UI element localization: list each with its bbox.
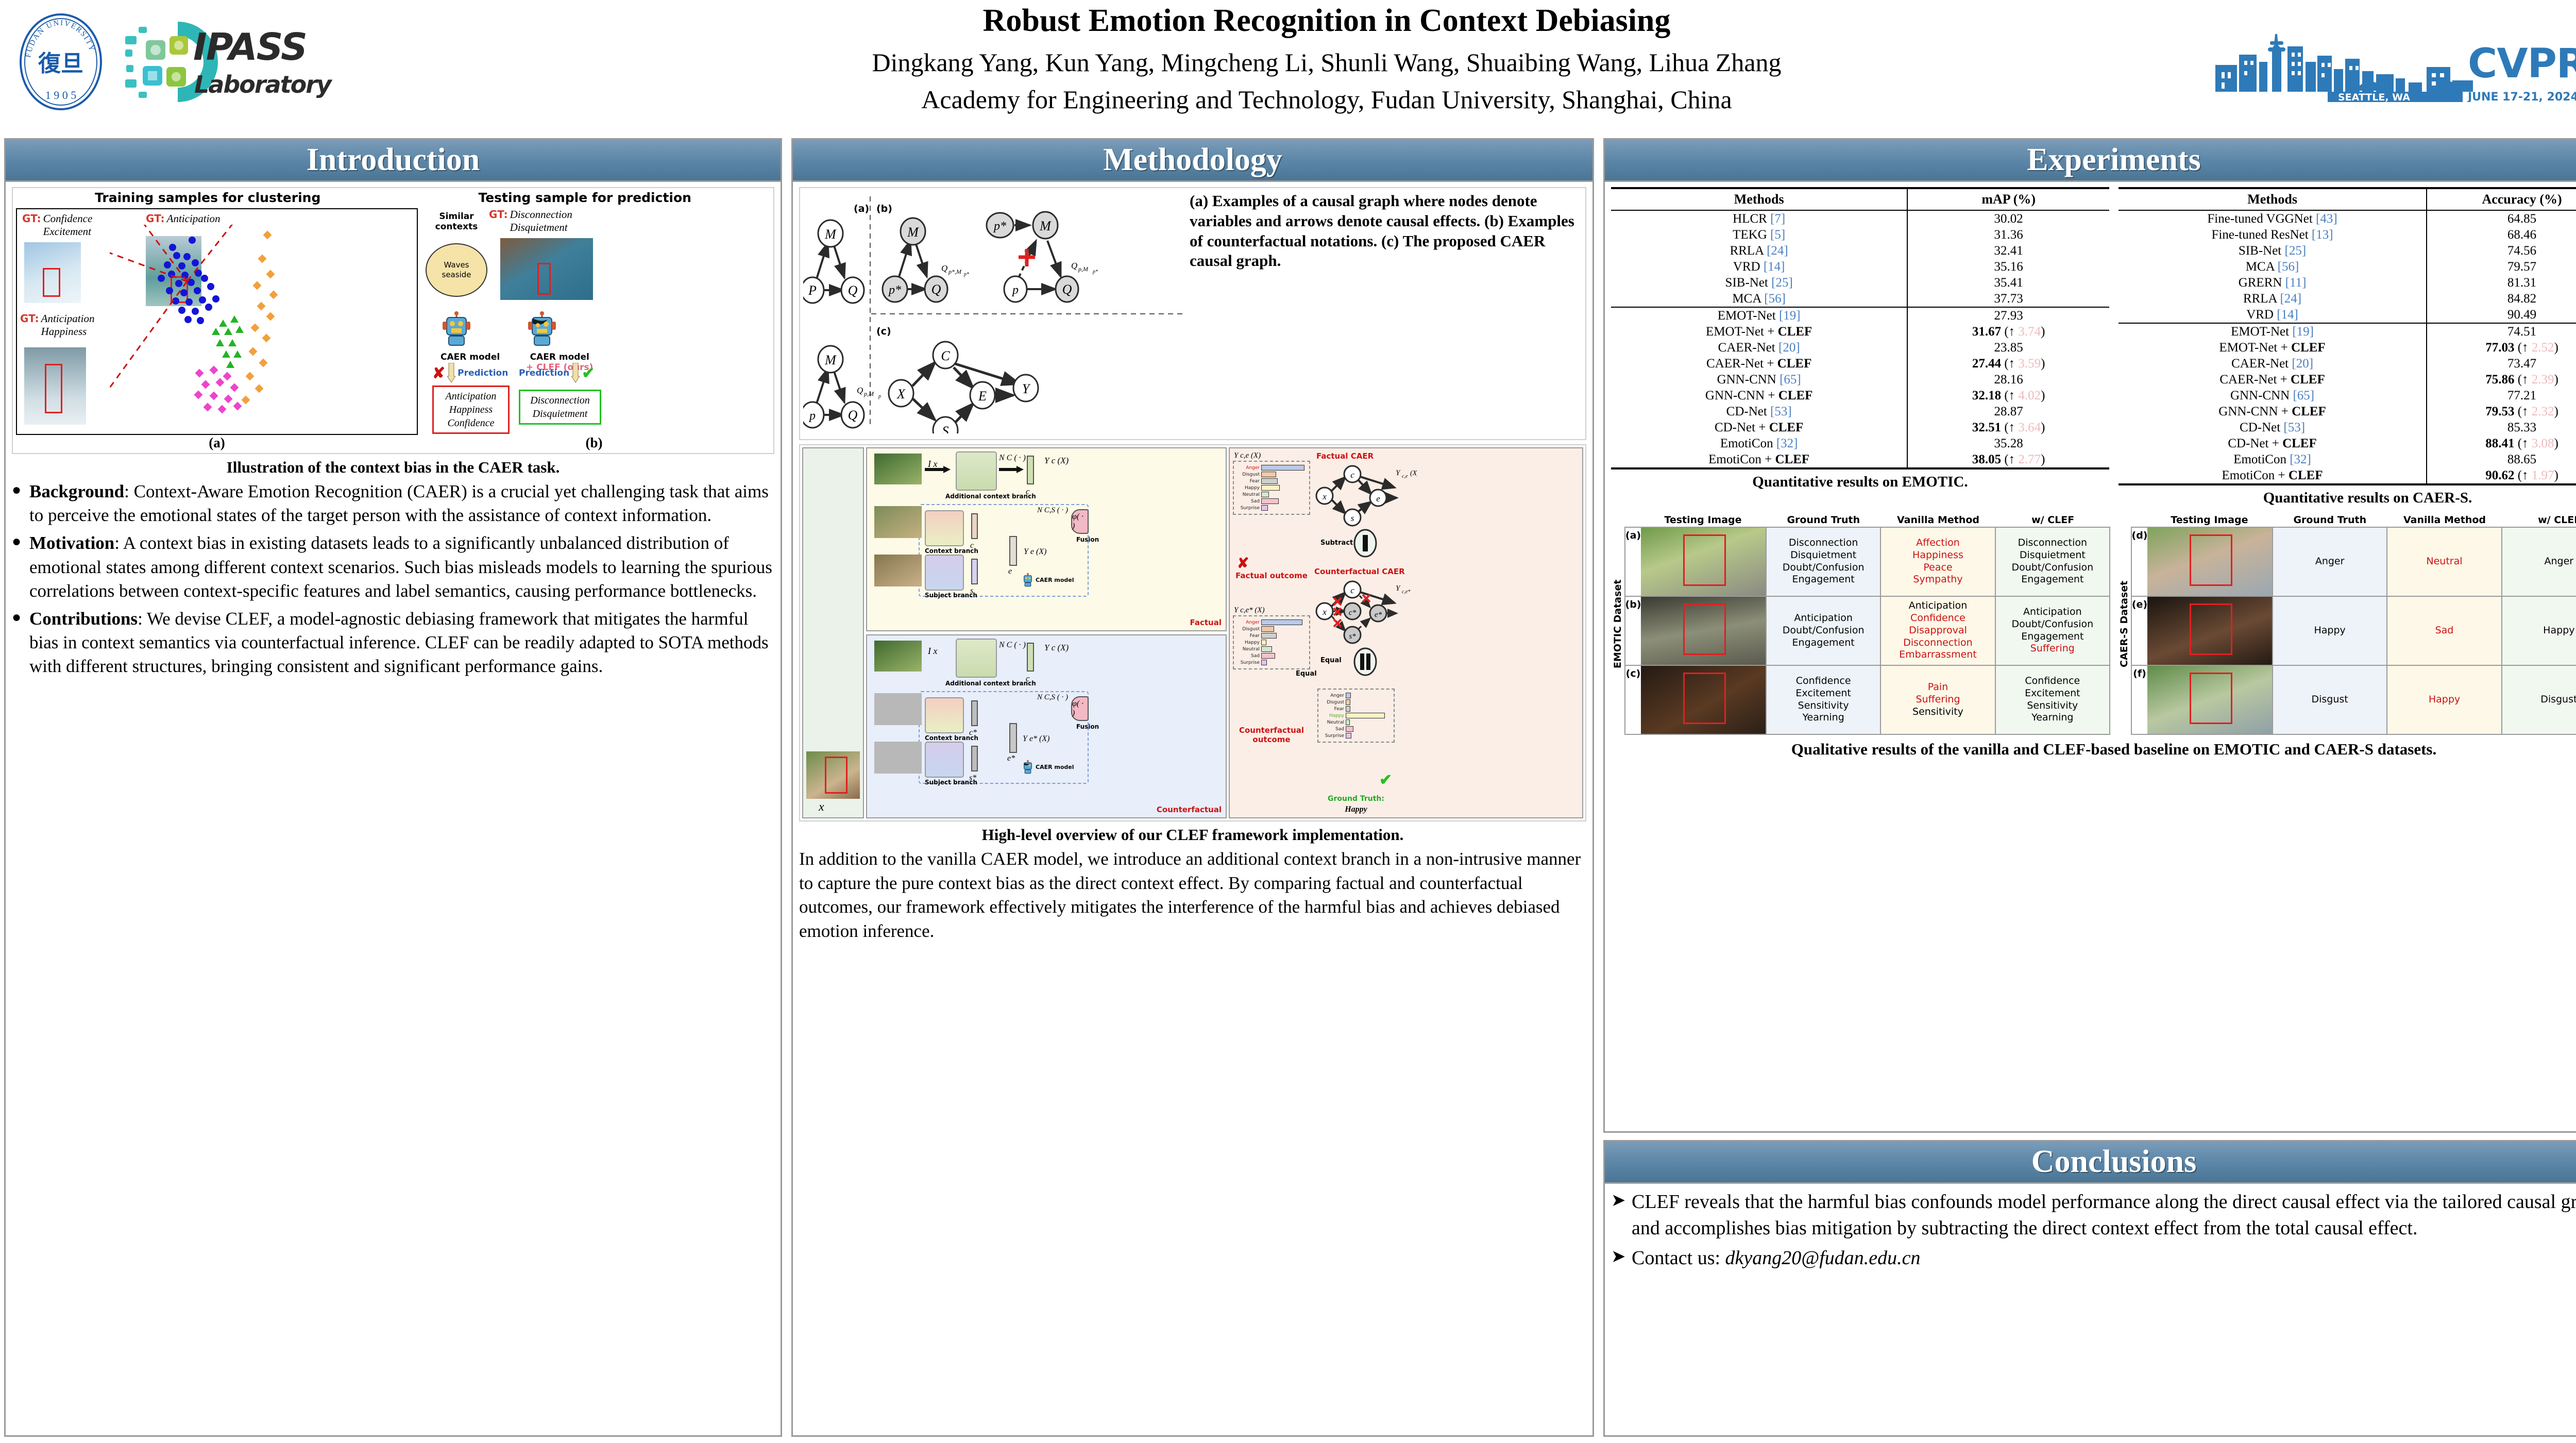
vanilla-method-cell: Happy [2386, 666, 2501, 734]
table-cell-method: CAER-Net + CLEF [1611, 356, 1907, 372]
counterfactual-caer-label: Counterfactual CAER [1314, 567, 1405, 576]
factual-branch-panel: I x N C ( · ) c Y c (X) Additional conte… [866, 447, 1227, 631]
emotion-bar [1261, 646, 1272, 652]
table-row: Fine-tuned ResNet [13]68.46 [2119, 227, 2576, 243]
svg-text:(b): (b) [876, 203, 892, 214]
fudan-university-logo-icon: FUDAN UNIVERSITY 復旦 1 9 0 5 [9, 10, 112, 113]
cross-mark-icon: ✘ [432, 364, 445, 382]
svg-text:M: M [824, 353, 837, 367]
methodology-paragraph: In addition to the vanilla CAER model, w… [799, 847, 1586, 943]
fusion-label: Fusion [1076, 536, 1099, 543]
svg-text:E: E [978, 389, 987, 404]
vanilla-method-cell: AnticipationConfidenceDisapprovalDisconn… [1880, 597, 1994, 665]
counterfactual-outcome-label: Counterfactual outcome [1233, 726, 1310, 744]
emotion-label: Happy [1320, 713, 1344, 718]
bullet-contributions-lead: Contributions [29, 609, 138, 629]
table-cell-value: 35.16 [1907, 259, 2109, 275]
clef-cell: AnticipationDoubt/ConfusionEngagementSuf… [1995, 597, 2109, 665]
emotion-bar-row: Sad [1236, 498, 1307, 504]
train-image-3 [24, 347, 86, 425]
table-row: EMOT-Net [19]74.51 [2119, 323, 2576, 340]
arrow-bullet-icon: ➤ [1611, 1189, 1632, 1242]
arrow-icon [925, 466, 952, 473]
svg-text:Q: Q [857, 385, 863, 395]
image-ix-label-cf: I x [928, 646, 937, 657]
emotion-bar [1346, 713, 1385, 718]
table-row: RRLA [24]32.41 [1611, 243, 2109, 259]
bullet-background-lead: Background [29, 481, 124, 501]
qualitative-row: (d)AngerNeutralAnger [2131, 527, 2576, 597]
waves-seaside-cloud-label: Waves seaside [442, 260, 471, 280]
table-cell-method: EmotiCon [32] [1611, 435, 1907, 451]
check-mark-icon: ✔ [582, 364, 595, 382]
table-row: Fine-tuned VGGNet [43]64.85 [2119, 210, 2576, 227]
svg-text:p*,M: p*,M [948, 268, 962, 275]
svg-text:p*: p* [1092, 269, 1098, 275]
table-cell-method: GRERN [11] [2119, 275, 2427, 291]
subject-image [874, 555, 922, 586]
ground-truth-cell: Anger [2272, 528, 2386, 596]
column-experiments: Experiments Methods mAP (%) [1603, 138, 2576, 1437]
qualitative-row: (a)DisconnectionDisquietmentDoubt/Confus… [1624, 527, 2110, 597]
svg-text:p*: p* [993, 220, 1006, 233]
svg-text:Y: Y [1396, 469, 1401, 477]
svg-text:Q: Q [848, 408, 858, 423]
factual-caer-label: Factual CAER [1316, 451, 1374, 461]
testing-image-cell [1641, 666, 1766, 734]
svg-text:p*: p* [963, 272, 969, 277]
emotic-header-methods: Methods [1611, 188, 1907, 210]
ground-truth-cell: Happy [2272, 597, 2386, 665]
svg-text:M: M [824, 227, 837, 242]
svg-text:Y: Y [1022, 381, 1031, 396]
emotion-label: Surprise [1236, 506, 1260, 511]
caers-table-caption: Quantitative results on CAER-S. [2119, 490, 2576, 507]
table-cell-method: CD-Net + CLEF [1611, 420, 1907, 435]
emotion-label: Anger [1320, 693, 1344, 698]
feature-c-bar-2 [971, 513, 978, 539]
table-row: VRD [14]35.16 [1611, 259, 2109, 275]
nc-label-cf: N C ( · ) [999, 641, 1026, 650]
ground-truth-cell: ConfidenceExcitementSensitivityYearning [1766, 666, 1880, 734]
gray-image-1 [874, 693, 922, 725]
table-row: CAER-Net + CLEF75.86 (↑ 2.39) [2119, 372, 2576, 388]
svg-text:P: P [808, 283, 817, 298]
fusion-label-cf: Fusion [1076, 723, 1099, 730]
emotion-bar-row: Anger [1236, 619, 1307, 625]
subtract-operator-icon [1353, 529, 1377, 558]
prediction-box-clef: Disconnection Disquietment [519, 390, 601, 425]
table-row: HLCR [7]30.02 [1611, 210, 2109, 227]
introduction-header: Introduction [6, 140, 781, 182]
table-cell-value: 79.57 [2427, 259, 2576, 275]
clef-framework-figure: x I x N C ( · ) [799, 444, 1586, 821]
table-row: EMOT-Net [19]27.93 [1611, 307, 2109, 324]
svg-text:p,M: p,M [863, 390, 874, 397]
row-index-label: (a) [1625, 528, 1641, 596]
row-index-label: (f) [2132, 666, 2147, 734]
robot-icon-vanilla [440, 311, 472, 348]
emotion-bar-row: Disgust [1236, 626, 1307, 632]
table-row: EmotiCon + CLEF90.62 (↑ 1.97) [2119, 467, 2576, 484]
feature-e-label: e [1008, 567, 1012, 576]
ground-truth-bar-list: AngerDisgustFearHappyNeutralSadSurprise [1320, 693, 1392, 739]
emotion-label: Sad [1320, 727, 1344, 732]
table-cell-method: VRD [14] [2119, 307, 2427, 323]
emotion-label: Fear [1320, 707, 1344, 712]
emotion-label: Happy [1236, 640, 1260, 645]
qualitative-row: (b)AnticipationDoubt/ConfusionEngagement… [1624, 597, 2110, 666]
feature-cstar-label: c* [969, 728, 977, 737]
emotion-bar-row: Disgust [1236, 472, 1307, 477]
svg-text:(X): (X) [1410, 469, 1417, 477]
clef-cell: DisconnectionDisquietmentDoubt/Confusion… [1995, 528, 2109, 596]
contact-email[interactable]: dkyang20@fudan.edu.cn [1725, 1247, 1921, 1269]
context-image-2 [874, 506, 922, 538]
svg-text:s: s [1351, 513, 1354, 523]
table-cell-value: 84.82 [2427, 291, 2576, 307]
table-cell-method: CAER-Net + CLEF [2119, 372, 2427, 388]
bullet-motivation-lead: Motivation [29, 533, 114, 553]
svg-text:1 9 0 5: 1 9 0 5 [45, 89, 77, 102]
panel-conclusions: Conclusions ➤ CLEF reveals that the harm… [1603, 1140, 2576, 1437]
conclusions-header: Conclusions [1605, 1142, 2576, 1184]
network-box-context-factual [956, 451, 997, 491]
conclusion-text-1: CLEF reveals that the harmful bias confo… [1632, 1189, 2576, 1242]
counterfactual-bar-list: AngerDisgustFearHappyNeutralSadSurprise [1236, 619, 1307, 665]
svg-text:x: x [1322, 492, 1327, 501]
table-cell-method: MCA [56] [1611, 291, 1907, 307]
check-mark-icon-gt: ✔ [1379, 771, 1392, 789]
table-cell-value: 64.85 [2427, 210, 2576, 227]
table-cell-value: 32.41 [1907, 243, 2109, 259]
table-row: CD-Net + CLEF88.41 (↑ 3.08) [2119, 435, 2576, 451]
emotion-label: Neutral [1320, 720, 1344, 725]
caers-dataset-label: CAER-S Dataset [2117, 513, 2131, 735]
svg-text:s*: s* [1349, 632, 1356, 641]
causal-graph-svg: (a) (b) (c) M P Q [803, 191, 1184, 433]
prediction-label-right: Prediction [519, 368, 569, 378]
row-index-label: (e) [2132, 597, 2147, 665]
factual-bar-list: AngerDisgustFearHappyNeutralSadSurprise [1236, 465, 1307, 511]
svg-text:IPASS: IPASS [193, 25, 307, 69]
emotion-bar [1261, 478, 1278, 484]
emotion-label: Disgust [1320, 700, 1344, 705]
emotion-bar-row: Surprise [1320, 733, 1392, 739]
feature-sstar-label: s* [969, 774, 976, 783]
caer-model-label-left: CAER model [440, 352, 500, 362]
bullet-dot-icon: ● [12, 531, 29, 603]
methodology-title: Methodology [1103, 142, 1282, 178]
emotion-bar-row: Fear [1236, 633, 1307, 639]
svg-text:Laboratory: Laboratory [194, 71, 332, 98]
panel-experiments: Experiments Methods mAP (%) [1603, 138, 2576, 1133]
emotion-label: Happy [1236, 485, 1260, 491]
column-introduction: Introduction Training samples for cluste… [4, 138, 782, 1437]
ground-truth-bars: AngerDisgustFearHappyNeutralSadSurprise [1317, 689, 1395, 743]
ncs-label-cf: N C,S ( · ) [1037, 693, 1068, 702]
svg-text:M: M [907, 225, 919, 240]
qualitative-row: (f)DisgustHappyDisgust [2131, 666, 2576, 735]
table-cell-value: 88.41 (↑ 3.08) [2427, 435, 2576, 451]
svg-text:c*: c* [1349, 609, 1357, 617]
feature-c-bar-cf [1027, 643, 1034, 672]
emotion-label: Fear [1236, 479, 1260, 484]
emotion-bar-row: Sad [1236, 653, 1307, 659]
table-cell-method: Fine-tuned ResNet [13] [2119, 227, 2427, 243]
feature-estar-bar [1009, 723, 1017, 753]
table-cell-value: 88.65 [2427, 451, 2576, 467]
contact-prefix: Contact us: [1632, 1247, 1725, 1269]
factual-caer-dag: x c s e Y c,e (X) [1314, 462, 1417, 539]
arrow-icon [999, 466, 1025, 473]
row-index-label: (c) [1625, 666, 1641, 734]
row-index-label: (d) [2132, 528, 2147, 596]
table-row: CAER-Net + CLEF27.44 (↑ 3.59) [1611, 356, 2109, 372]
table-cell-method: EmotiCon + CLEF [2119, 467, 2427, 484]
equal-label-2: Equal [1296, 670, 1317, 678]
network-box-subject-cf [925, 742, 964, 778]
feature-estar-label: e* [1007, 754, 1015, 763]
poster-title: Robust Emotion Recognition in Context De… [505, 3, 2148, 39]
arrow-down-icon-left [447, 363, 455, 383]
similar-contexts-label: Similar contexts [435, 211, 478, 232]
table-cell-method: CD-Net [53] [1611, 404, 1907, 420]
factual-outcome-bars: AngerDisgustFearHappyNeutralSadSurprise [1233, 461, 1310, 515]
table-cell-value: 38.05 (↑ 2.77) [1907, 451, 2109, 468]
yc-output-label: Y c (X) [1044, 456, 1069, 466]
column-methodology: Methodology [791, 138, 1594, 1437]
emotion-bar [1261, 505, 1268, 511]
emotion-bar [1261, 492, 1269, 497]
prediction-label-left: Prediction [457, 368, 508, 378]
cvpr-dates: JUNE 17-21, 2024 [2467, 91, 2576, 102]
table-row: GNN-CNN + CLEF79.53 (↑ 2.32) [2119, 404, 2576, 420]
emotion-bar-row: Happy [1320, 713, 1392, 718]
table-cell-value: 74.51 [2427, 323, 2576, 340]
caer-model-label-cf: CAER model [1036, 764, 1074, 770]
svg-text:C: C [941, 348, 950, 363]
svg-text:c: c [1350, 585, 1354, 595]
emotion-bar [1261, 653, 1275, 659]
row-index-label: (b) [1625, 597, 1641, 665]
table-row: GNN-CNN [65]28.16 [1611, 372, 2109, 388]
table-cell-value: 37.73 [1907, 291, 2109, 307]
emotion-bar [1346, 719, 1350, 725]
caers-header-methods: Methods [2119, 188, 2427, 210]
qualitative-row: (e)HappySadHappy [2131, 597, 2576, 666]
counterfactual-branch-panel: I x N C ( · ) c Y c (X) Additional conte… [866, 634, 1227, 818]
introduction-bullet-list: ● Background: Context-Aware Emotion Reco… [12, 480, 774, 679]
yestar-output-label: Y e* (X) [1023, 734, 1049, 744]
emotion-bar-row: Surprise [1236, 660, 1307, 665]
conclusion-bullet-contact: ➤ Contact us: dkyang20@fudan.edu.cn [1611, 1245, 2576, 1271]
table-row: GNN-CNN + CLEF32.18 (↑ 4.02) [1611, 388, 2109, 404]
emotion-label: Disgust [1236, 472, 1260, 477]
svg-text:(a): (a) [854, 203, 869, 214]
emotion-bar-row: Neutral [1236, 492, 1307, 497]
ground-truth-cell: Disgust [2272, 666, 2386, 734]
results-table-caers: Methods Accuracy (%) Fine-tuned VGGNet [… [2119, 187, 2576, 510]
svg-text:e*: e* [1375, 611, 1382, 619]
qual-col-vanilla: Vanilla Method [1881, 513, 1996, 527]
table-cell-value: 28.87 [1907, 404, 2109, 420]
table-row: EMOT-Net + CLEF31.67 (↑ 3.74) [1611, 324, 2109, 340]
counterfactual-outcome-bars: AngerDisgustFearHappyNeutralSadSurprise [1233, 615, 1310, 669]
emotic-table-caption: Quantitative results on EMOTIC. [1611, 474, 2109, 491]
input-x-label: x [819, 800, 824, 814]
qual-col-testing-image: Testing Image [1640, 513, 1766, 527]
table-cell-method: EmotiCon + CLEF [1611, 451, 1907, 468]
ground-truth-label: Ground Truth: [1317, 795, 1395, 803]
test-gt-label: Disconnection Disquietment [510, 208, 572, 234]
table-cell-value: 31.67 (↑ 3.74) [1907, 324, 2109, 340]
qual-col-ground-truth-2: Ground Truth [2273, 513, 2387, 527]
ground-truth-cell: AnticipationDoubt/ConfusionEngagement [1766, 597, 1880, 665]
poster-header: FUDAN UNIVERSITY 復旦 1 9 0 5 IPASS Labora… [0, 0, 2576, 138]
svg-text:M: M [1039, 219, 1052, 233]
svg-text:Y: Y [1396, 584, 1401, 593]
svg-text:c: c [1350, 470, 1354, 480]
table-cell-value: 32.18 (↑ 4.02) [1907, 388, 2109, 404]
ncs-label: N C,S ( · ) [1037, 506, 1068, 515]
factual-outcome-label: Factual outcome [1233, 571, 1310, 580]
table-cell-method: EMOT-Net + CLEF [2119, 340, 2427, 356]
qualitative-caers-block: CAER-S Dataset Testing Image Ground Trut… [2117, 513, 2576, 735]
svg-text:復旦: 復旦 [38, 51, 83, 76]
emotion-label: Anger [1236, 620, 1260, 625]
bullet-contributions-text: : We devise CLEF, a model-agnostic debia… [29, 609, 769, 676]
table-row: GRERN [11]81.31 [2119, 275, 2576, 291]
bullet-background-text: : Context-Aware Emotion Recognition (CAE… [29, 481, 769, 525]
table-cell-method: EmotiCon [32] [2119, 451, 2427, 467]
table-cell-method: GNN-CNN [65] [2119, 388, 2427, 404]
testing-image-cell [1641, 597, 1766, 665]
emotion-bar-row: Anger [1320, 693, 1392, 698]
network-box-context-cf [956, 639, 997, 678]
table-cell-value: 23.85 [1907, 340, 2109, 356]
table-cell-value: 35.41 [1907, 275, 2109, 291]
table-row: TEKG [5]31.36 [1611, 227, 2109, 243]
emotion-bar [1261, 485, 1280, 491]
table-cell-value: 30.02 [1907, 210, 2109, 227]
emotion-label: Fear [1236, 633, 1260, 639]
emotion-bar-row: Fear [1236, 478, 1307, 484]
table-cell-method: EMOT-Net + CLEF [1611, 324, 1907, 340]
robot-icon-clef [526, 311, 558, 348]
network-box-subject [925, 555, 964, 591]
clef-cell: Anger [2501, 528, 2576, 596]
table-cell-value: 90.62 (↑ 1.97) [2427, 467, 2576, 484]
qual-col-clef-2: w/ CLEF [2502, 513, 2576, 527]
header-text-block: Robust Emotion Recognition in Context De… [505, 3, 2148, 115]
emotion-bar [1346, 733, 1351, 739]
clef-figure-caption: High-level overview of our CLEF framewor… [799, 826, 1586, 844]
emotion-label: Sad [1236, 499, 1260, 504]
train-image-1 [24, 242, 81, 303]
ycestar-label: Y c,e* (X) [1234, 606, 1265, 615]
clef-cell: Happy [2501, 597, 2576, 665]
emotion-bar [1261, 633, 1277, 639]
table-cell-method: HLCR [7] [1611, 210, 1907, 227]
emotion-bar-row: Neutral [1236, 646, 1307, 652]
cross-mark-icon-factual: ✘ [1237, 555, 1249, 572]
table-cell-value: 81.31 [2427, 275, 2576, 291]
emotion-bar [1261, 626, 1274, 632]
figure-panel-a: GT: Confidence Excitement GT: Anticipati… [16, 208, 418, 435]
emotion-bar [1261, 465, 1304, 471]
test-image [500, 238, 593, 300]
table-cell-value: 85.33 [2427, 420, 2576, 435]
emotion-label: Surprise [1236, 660, 1260, 665]
clef-cell: ConfidenceExcitementSensitivityYearning [1995, 666, 2109, 734]
bullet-contributions: ● Contributions: We devise CLEF, a model… [12, 607, 774, 679]
table-row: CAER-Net [20]73.47 [2119, 356, 2576, 372]
clef-cell: Disgust [2501, 666, 2576, 734]
train-sample-3-label: Anticipation Happiness [41, 312, 95, 338]
context-image-factual [874, 454, 922, 484]
table-cell-method: CAER-Net [20] [2119, 356, 2427, 372]
table-row: EmotiCon + CLEF38.05 (↑ 2.77) [1611, 451, 2109, 468]
table-row: CAER-Net [20]23.85 [1611, 340, 2109, 356]
network-box-context [925, 510, 964, 546]
emotion-bar-row: Anger [1236, 465, 1307, 471]
table-row: SIB-Net [25]74.56 [2119, 243, 2576, 259]
svg-text:x: x [1322, 607, 1327, 617]
table-cell-value: 68.46 [2427, 227, 2576, 243]
svg-text:Q: Q [848, 283, 858, 298]
experiments-header: Experiments [1605, 140, 2576, 182]
table-row: EmotiCon [32]35.28 [1611, 435, 2109, 451]
input-image [806, 751, 860, 799]
yce-label: Y c,e (X) [1234, 451, 1261, 460]
testing-sample-heading: Testing sample for prediction [478, 190, 691, 205]
svg-text:S: S [942, 424, 949, 433]
introduction-title: Introduction [307, 142, 480, 178]
caer-model-label-factual: CAER model [1036, 577, 1074, 583]
conclusions-title: Conclusions [2031, 1144, 2196, 1180]
ground-truth-value: Happy [1317, 805, 1395, 814]
conclusion-bullet-1: ➤ CLEF reveals that the harmful bias con… [1611, 1189, 2576, 1242]
table-row: GNN-CNN [65]77.21 [2119, 388, 2576, 404]
poster-authors: Dingkang Yang, Kun Yang, Mingcheng Li, S… [505, 47, 2148, 78]
results-table-emotic: Methods mAP (%) HLCR [7]30.02TEKG [5]31.… [1611, 187, 2109, 510]
svg-text:(c): (c) [876, 326, 891, 337]
feature-sstar-bar [971, 746, 978, 771]
table-cell-method: Fine-tuned VGGNet [43] [2119, 210, 2427, 227]
gt-label-2: GT: [146, 212, 165, 225]
table-cell-method: RRLA [24] [1611, 243, 1907, 259]
bullet-dot-icon: ● [12, 607, 29, 679]
svg-text:Q: Q [931, 282, 941, 297]
subject-branch-label: Subject branch [925, 592, 977, 599]
emotion-bar-row: Surprise [1236, 505, 1307, 511]
table-cell-method: EMOT-Net [19] [1611, 307, 1907, 324]
table-cell-value: 77.21 [2427, 388, 2576, 404]
emotion-bar [1261, 498, 1279, 504]
panel-introduction: Introduction Training samples for cluste… [4, 138, 782, 1437]
gt-label-3: GT: [20, 312, 39, 325]
table-row: VRD [14]90.49 [2119, 307, 2576, 323]
table-row: CD-Net [53]28.87 [1611, 404, 2109, 420]
table-cell-method: GNN-CNN + CLEF [2119, 404, 2427, 420]
table-row: EmotiCon [32]88.65 [2119, 451, 2576, 467]
svg-text:p: p [1011, 283, 1019, 297]
qual-col-testing-image-2: Testing Image [2146, 513, 2273, 527]
emotion-label: Sad [1236, 653, 1260, 659]
table-cell-method: SIB-Net [25] [1611, 275, 1907, 291]
svg-text:Q: Q [941, 263, 947, 273]
